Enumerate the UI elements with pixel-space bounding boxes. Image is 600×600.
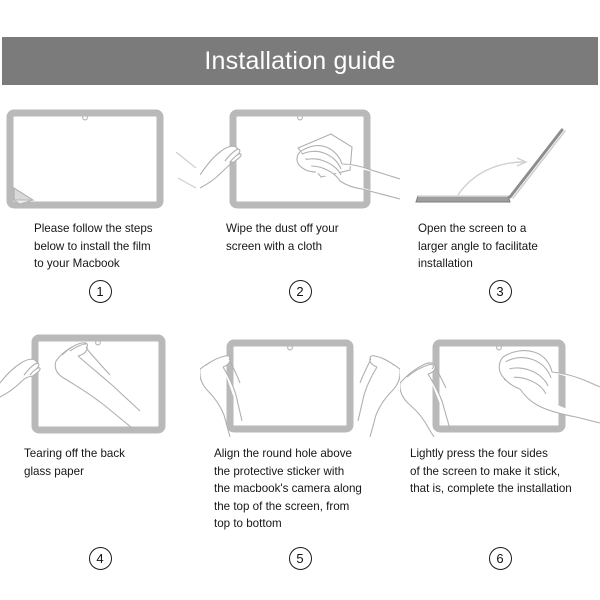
step-caption-1: Please follow the steps below to install… — [0, 220, 200, 273]
step-illustration-6 — [400, 325, 600, 437]
header-bar: Installation guide — [2, 37, 598, 85]
hand-wiping-screen-with-cloth-icon — [200, 100, 400, 212]
steps-row-2: Tearing off the back glass paper 4 — [0, 325, 600, 580]
step-number-badge-1: 1 — [89, 280, 112, 303]
step-card-3: Open the screen to a larger angle to fac… — [400, 100, 600, 325]
laptop-side-view-opening-arrow-icon — [400, 100, 600, 212]
step-badge-wrap-3: 3 — [400, 280, 600, 303]
step-card-2: Wipe the dust off your screen with a clo… — [200, 100, 400, 325]
step-caption-5: Align the round hole above the protectiv… — [200, 445, 400, 533]
step-illustration-2 — [200, 100, 400, 212]
step-badge-wrap-6: 6 — [400, 547, 600, 570]
step-card-1: Please follow the steps below to install… — [0, 100, 200, 325]
step-caption-4: Tearing off the back glass paper — [0, 445, 200, 480]
step-illustration-5 — [200, 325, 400, 437]
step-number-badge-3: 3 — [489, 280, 512, 303]
step-caption-2: Wipe the dust off your screen with a clo… — [200, 220, 400, 255]
two-hands-aligning-film-top-corners-icon — [200, 325, 400, 437]
step-number-badge-6: 6 — [489, 547, 512, 570]
screen-with-peeling-film-corner-icon — [0, 100, 200, 212]
step-illustration-4 — [0, 325, 200, 437]
step-card-4: Tearing off the back glass paper 4 — [0, 325, 200, 580]
step-card-5: Align the round hole above the protectiv… — [200, 325, 400, 580]
step-caption-3: Open the screen to a larger angle to fac… — [400, 220, 600, 273]
step-number-badge-4: 4 — [89, 547, 112, 570]
hands-peeling-back-paper-icon — [0, 325, 200, 437]
step-number-badge-2: 2 — [289, 280, 312, 303]
steps-row-1: Please follow the steps below to install… — [0, 100, 600, 325]
steps-grid: Please follow the steps below to install… — [0, 100, 600, 580]
step-caption-6: Lightly press the four sides of the scre… — [400, 445, 600, 498]
step-illustration-3 — [400, 100, 600, 212]
step-card-6: Lightly press the four sides of the scre… — [400, 325, 600, 580]
step-illustration-1 — [0, 100, 200, 212]
palm-pressing-screen-icon — [400, 325, 600, 437]
step-number-badge-5: 5 — [289, 547, 312, 570]
page-title: Installation guide — [204, 49, 395, 74]
installation-guide-page: Installation guide Please follow the ste… — [0, 0, 600, 600]
